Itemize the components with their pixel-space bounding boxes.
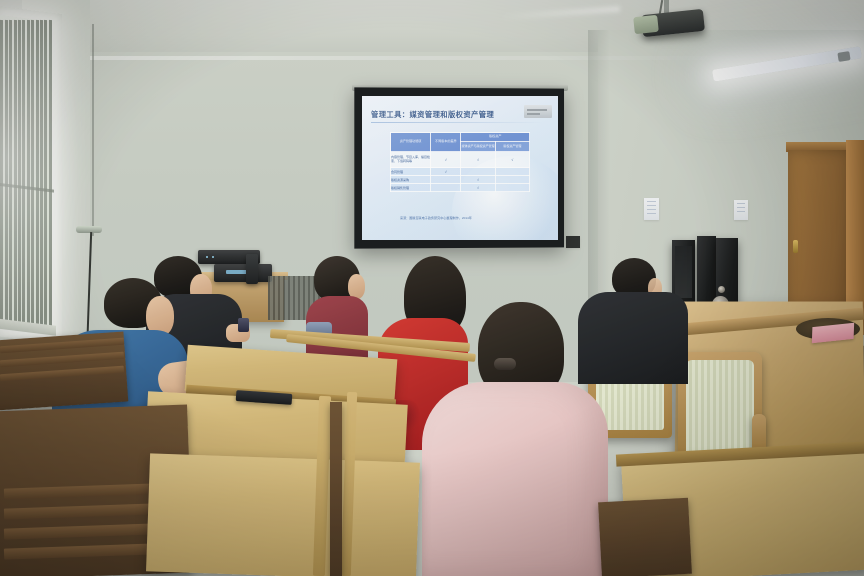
av-led-indicator [212,256,214,258]
torso [422,382,608,576]
window-bar [44,20,47,326]
slide-title-underline [371,122,543,123]
projected-slide: 管理工具：媒资管理和版权资产管理 资产管理功能项 不同版本的差异 版权资产 媒体… [362,96,558,240]
window-bar [0,20,3,326]
fluorescent-light-end [837,51,850,62]
row-label: 版权销售管理 [391,184,431,192]
row-cell: √ [461,152,495,168]
row-cell: √ [461,176,495,184]
window-bar [36,20,39,326]
row-label: 版权资源采购 [391,176,431,184]
row-cell [461,168,495,176]
row-cell [495,184,529,192]
ceiling-wall-joint [0,56,864,60]
table-subheader-1: 媒体资产与版权资产管理 [461,142,495,152]
table-row: 版权资源采购 √ [391,176,530,184]
torso [578,292,688,384]
slide-source-note: 来源：国脉互联电子政务研究中心整理制作，2014年 [400,215,472,220]
row-cell [495,176,529,184]
av-led-indicator [206,256,208,258]
wall-frame-small [566,236,580,248]
row-label: 合同管理 [391,168,431,176]
window-bar [9,20,12,326]
slide-title: 管理工具：媒资管理和版权资产管理 [371,110,494,120]
table-group-header: 版权资产 [461,133,530,142]
table-row: 合同管理 √ [391,168,530,176]
chair-backrest-pad [686,360,754,456]
window-bar [22,20,25,326]
microphone-cable [92,24,94,236]
window-bar [40,20,43,326]
door-handle-icon[interactable] [793,240,798,253]
window-bar [18,20,21,326]
table-row: 版权销售管理 √ [391,184,530,192]
student-desk-front-right [146,453,420,576]
row-label: 内容管理、节目入库、编目检索、下载转码等 [391,152,431,168]
row-cell: √ [495,152,529,168]
bench-back-rail [330,402,342,576]
window-bar [31,20,34,326]
slide-table: 资产管理功能项 不同版本的差异 版权资产 媒体资产与版权资产管理 版权资产管理 … [390,132,530,192]
row-cell [495,168,529,176]
projector-lens-icon [633,15,659,34]
table-col-header-feature: 资产管理功能项 [391,133,431,152]
hair-clip-icon [494,358,516,370]
meeting-room-photo: 管理工具：媒资管理和版权资产管理 资产管理功能项 不同版本的差异 版权资产 媒体… [0,0,864,576]
row-cell: √ [431,152,461,168]
window-bar [49,20,52,326]
row-cell: √ [431,168,461,176]
wall-notice-right [734,200,748,220]
row-cell [431,176,461,184]
row-cell [431,184,461,192]
window-bar [5,20,8,326]
microphone-icon [76,226,102,233]
wooden-bench-right [598,498,692,576]
table-subheader-2: 版权资产管理 [495,142,529,152]
window-bar [27,20,30,326]
table-col-header-diff: 不同版本的差异 [431,133,461,152]
av-display-strip [226,270,248,274]
table-header-row: 资产管理功能项 不同版本的差异 版权资产 [391,133,530,142]
slide-logo-icon [524,105,552,118]
row-cell: √ [461,184,495,192]
speaker-grill [675,246,692,298]
speaker-tweeter-icon [718,286,725,293]
table-row: 内容管理、节目入库、编目检索、下载转码等 √ √ √ [391,152,530,168]
av-monitor-panel [246,254,258,284]
wall-notice-left [644,198,659,220]
wooden-door[interactable] [788,150,850,325]
mobile-phone [238,318,249,332]
window-bar [14,20,17,326]
